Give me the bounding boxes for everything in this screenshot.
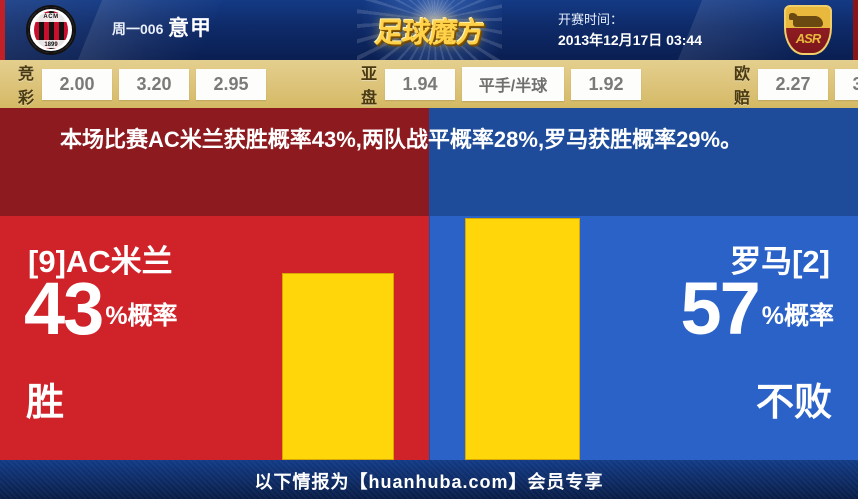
odds-group-oupei: 欧赔 2.27 3.28 3.06 [734,60,858,108]
brand-logo: 足球魔方 [357,0,502,60]
header-right-accent [853,0,858,60]
home-probability-bar [282,273,394,460]
odds-cell-oupei-1[interactable]: 2.27 [758,69,828,100]
odds-cell-jingcai-3[interactable]: 2.95 [196,69,266,100]
away-outcome-label: 不败 [756,371,832,426]
footer-text: 以下情报为【huanhuba.com】会员专享 [0,468,858,494]
brand-logo-text: 足球魔方 [357,11,502,51]
odds-cell-yapan-handicap[interactable]: 平手/半球 [462,67,564,101]
odds-label-yapan: 亚盘 [361,60,377,108]
home-percent-value: 43 [24,278,102,340]
home-probability: 43 %概率 [24,278,178,340]
summary-banner: 本场比赛AC米兰获胜概率43%,两队战平概率28%,罗马获胜概率29%。 [0,108,858,216]
home-outcome-label: 胜 [26,371,64,426]
as-roma-crest-icon: ASR [784,5,832,55]
odds-cell-yapan-1[interactable]: 1.94 [385,69,455,100]
footer-bar: 以下情报为【huanhuba.com】会员专享 [0,460,858,499]
odds-cell-yapan-3[interactable]: 1.92 [571,69,641,100]
header-left-accent [0,0,5,60]
roma-crest-initials: ASR [786,31,830,46]
away-probability-bar [465,218,580,460]
odds-cell-oupei-2[interactable]: 3.28 [835,69,858,100]
odds-label-oupei: 欧赔 [734,60,750,108]
odds-group-yapan: 亚盘 1.94 平手/半球 1.92 [361,60,648,108]
kickoff-time: 2013年12月17日 03:44 [558,30,748,50]
panel-divider [429,216,430,460]
odds-cell-jingcai-1[interactable]: 2.00 [42,69,112,100]
odds-label-jingcai: 竞彩 [18,60,34,108]
odds-cell-jingcai-2[interactable]: 3.20 [119,69,189,100]
odds-group-jingcai: 竞彩 2.00 3.20 2.95 [18,60,273,108]
probability-panels: [9]AC米兰 43 %概率 胜 罗马[2] 57 %概率 不败 [0,216,858,460]
she-wolf-icon [793,16,823,27]
league-name: 意甲 [168,12,212,42]
away-percent-value: 57 [680,278,758,340]
away-probability: 57 %概率 [680,278,834,340]
kickoff-label: 开赛时间： [558,9,748,28]
match-number: 周一006 [112,19,163,39]
match-prediction-infographic: ACM 1899 周一006 意甲 足球魔方 开赛时间： 2013年12月17日… [0,0,858,499]
summary-text: 本场比赛AC米兰获胜概率43%,两队战平概率28%,罗马获胜概率29%。 [60,121,800,158]
home-percent-unit: %概率 [105,296,177,340]
odds-bar: 竞彩 2.00 3.20 2.95 亚盘 1.94 平手/半球 1.92 欧赔 … [0,60,858,108]
ac-milan-crest-icon: ACM 1899 [26,5,76,55]
away-percent-unit: %概率 [762,296,834,340]
header-bar: ACM 1899 周一006 意甲 足球魔方 开赛时间： 2013年12月17日… [0,0,858,60]
